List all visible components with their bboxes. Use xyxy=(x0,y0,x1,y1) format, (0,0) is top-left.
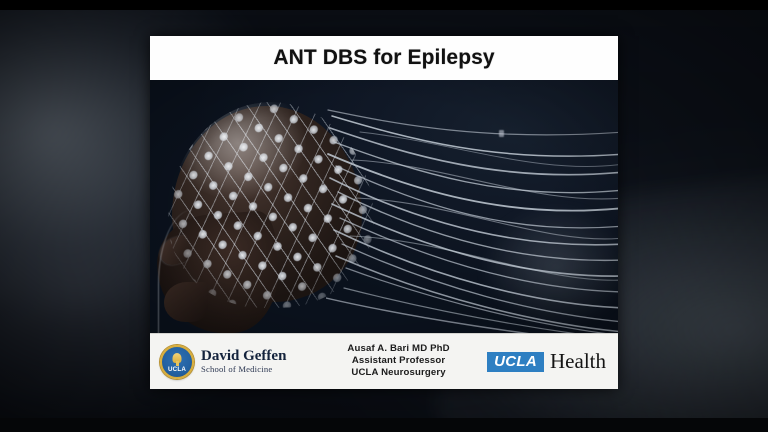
presenter-rank: Assistant Professor xyxy=(310,355,487,367)
mouse-cursor xyxy=(499,130,504,137)
screen: ANT DBS for Epilepsy xyxy=(0,0,768,432)
bottom-letterbox-bar xyxy=(0,418,768,432)
slide-title: ANT DBS for Epilepsy xyxy=(273,46,494,70)
presenter-info: Ausaf A. Bari MD PhD Assistant Professor… xyxy=(310,343,487,381)
presentation-slide[interactable]: ANT DBS for Epilepsy xyxy=(150,36,618,389)
geffen-logo-text: David Geffen School of Medicine xyxy=(201,348,286,374)
eeg-cable-bundle xyxy=(326,98,618,334)
david-geffen-logo: UCLA David Geffen School of Medicine xyxy=(160,345,310,379)
geffen-name: David Geffen xyxy=(201,348,286,365)
cable-strands-svg xyxy=(326,98,618,334)
ucla-seal-icon: UCLA xyxy=(160,345,194,379)
ucla-health-word: Health xyxy=(550,351,606,372)
slide-footer: UCLA David Geffen School of Medicine Aus… xyxy=(150,333,618,389)
seal-ucla-text: UCLA xyxy=(162,366,192,373)
top-letterbox-bar xyxy=(0,0,768,10)
presenter-department: UCLA Neurosurgery xyxy=(310,367,487,379)
ucla-health-mark: UCLA xyxy=(487,352,544,372)
presenter-name: Ausaf A. Bari MD PhD xyxy=(310,343,487,355)
slide-photo xyxy=(150,80,618,334)
geffen-subtitle: School of Medicine xyxy=(201,365,286,375)
slide-title-band: ANT DBS for Epilepsy xyxy=(150,36,618,81)
ucla-health-logo: UCLA Health xyxy=(487,351,606,372)
torch-icon xyxy=(173,353,182,363)
